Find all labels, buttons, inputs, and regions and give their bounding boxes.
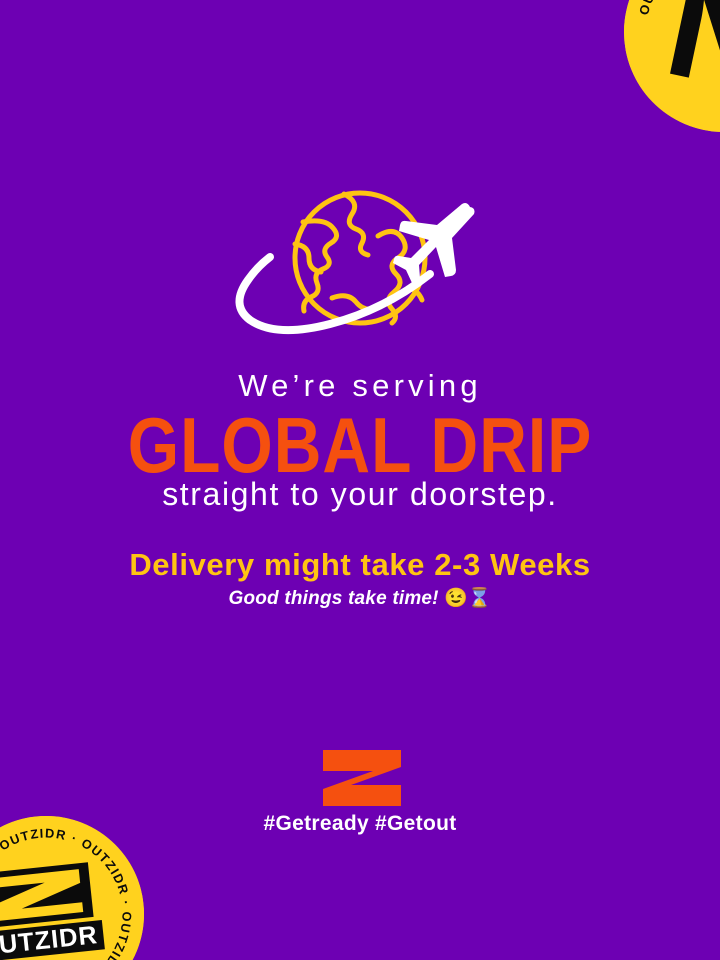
reassurance-text: Good things take time! — [228, 588, 438, 609]
subheadline-text: straight to your doorstep. — [0, 478, 720, 510]
badge-center-lockup: OUTZIDR — [0, 861, 105, 960]
wink-hourglass-emoji: 😉⌛ — [444, 588, 491, 609]
z-monogram-logo — [321, 749, 403, 807]
brand-badge-top-right: OUTZIDR · OUTZIDR · OUTZIDR · OUTZIDR · … — [605, 0, 720, 151]
brand-badge-bottom-left: OUTZIDR · OUTZIDR · OUTZIDR · OUTZIDR · … — [0, 806, 154, 960]
globe-plane-illustration — [232, 178, 492, 340]
promotional-poster: OUTZIDR · OUTZIDR · OUTZIDR · OUTZIDR · … — [0, 0, 720, 960]
reassurance-line: Good things take time! 😉⌛ — [0, 589, 720, 608]
eyebrow-text: We’re serving — [0, 370, 720, 401]
delivery-time-note: Delivery might take 2-3 Weeks — [0, 549, 720, 580]
page-title: GLOBAL DRIP — [0, 406, 720, 484]
orbit-trail — [239, 257, 430, 330]
z-monogram-shape — [323, 750, 401, 806]
